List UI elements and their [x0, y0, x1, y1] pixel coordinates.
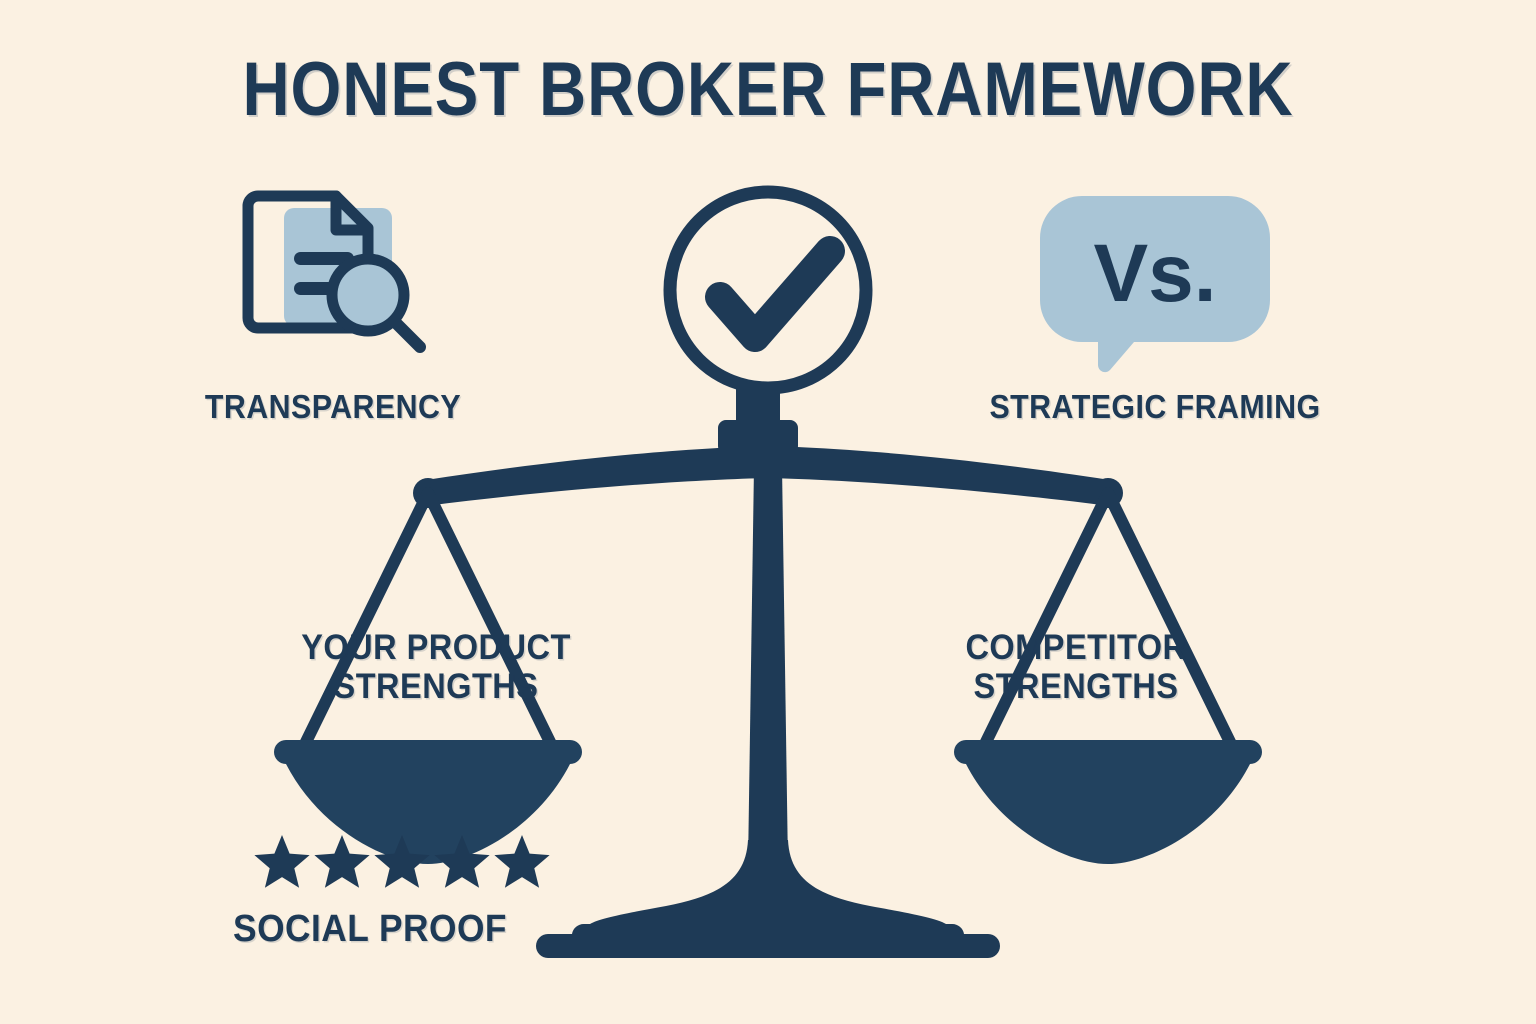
your-product-strengths-label: YOUR PRODUCT STRENGTHS	[241, 628, 632, 706]
five-stars-icon	[255, 832, 555, 892]
social-proof-label: SOCIAL PROOF	[184, 908, 556, 951]
page-title: HONEST BROKER FRAMEWORK	[108, 52, 1429, 128]
competitor-strengths-label: COMPETITOR STRENGTHS	[881, 628, 1272, 706]
check-circle-icon	[670, 192, 866, 388]
star-4	[434, 835, 489, 888]
infographic-canvas: HONEST BROKER FRAMEWORK TRANSPARENCY Vs.…	[0, 0, 1536, 1024]
star-3	[374, 835, 429, 888]
star-1	[254, 835, 309, 888]
balance-scale-icon	[268, 180, 1268, 940]
competitor-strengths-line-2: STRENGTHS	[881, 667, 1272, 706]
competitor-strengths-line-1: COMPETITOR	[881, 628, 1272, 667]
your-product-strengths-line-1: YOUR PRODUCT	[241, 628, 632, 667]
star-5	[494, 835, 549, 888]
star-2	[314, 835, 369, 888]
your-product-strengths-line-2: STRENGTHS	[241, 667, 632, 706]
